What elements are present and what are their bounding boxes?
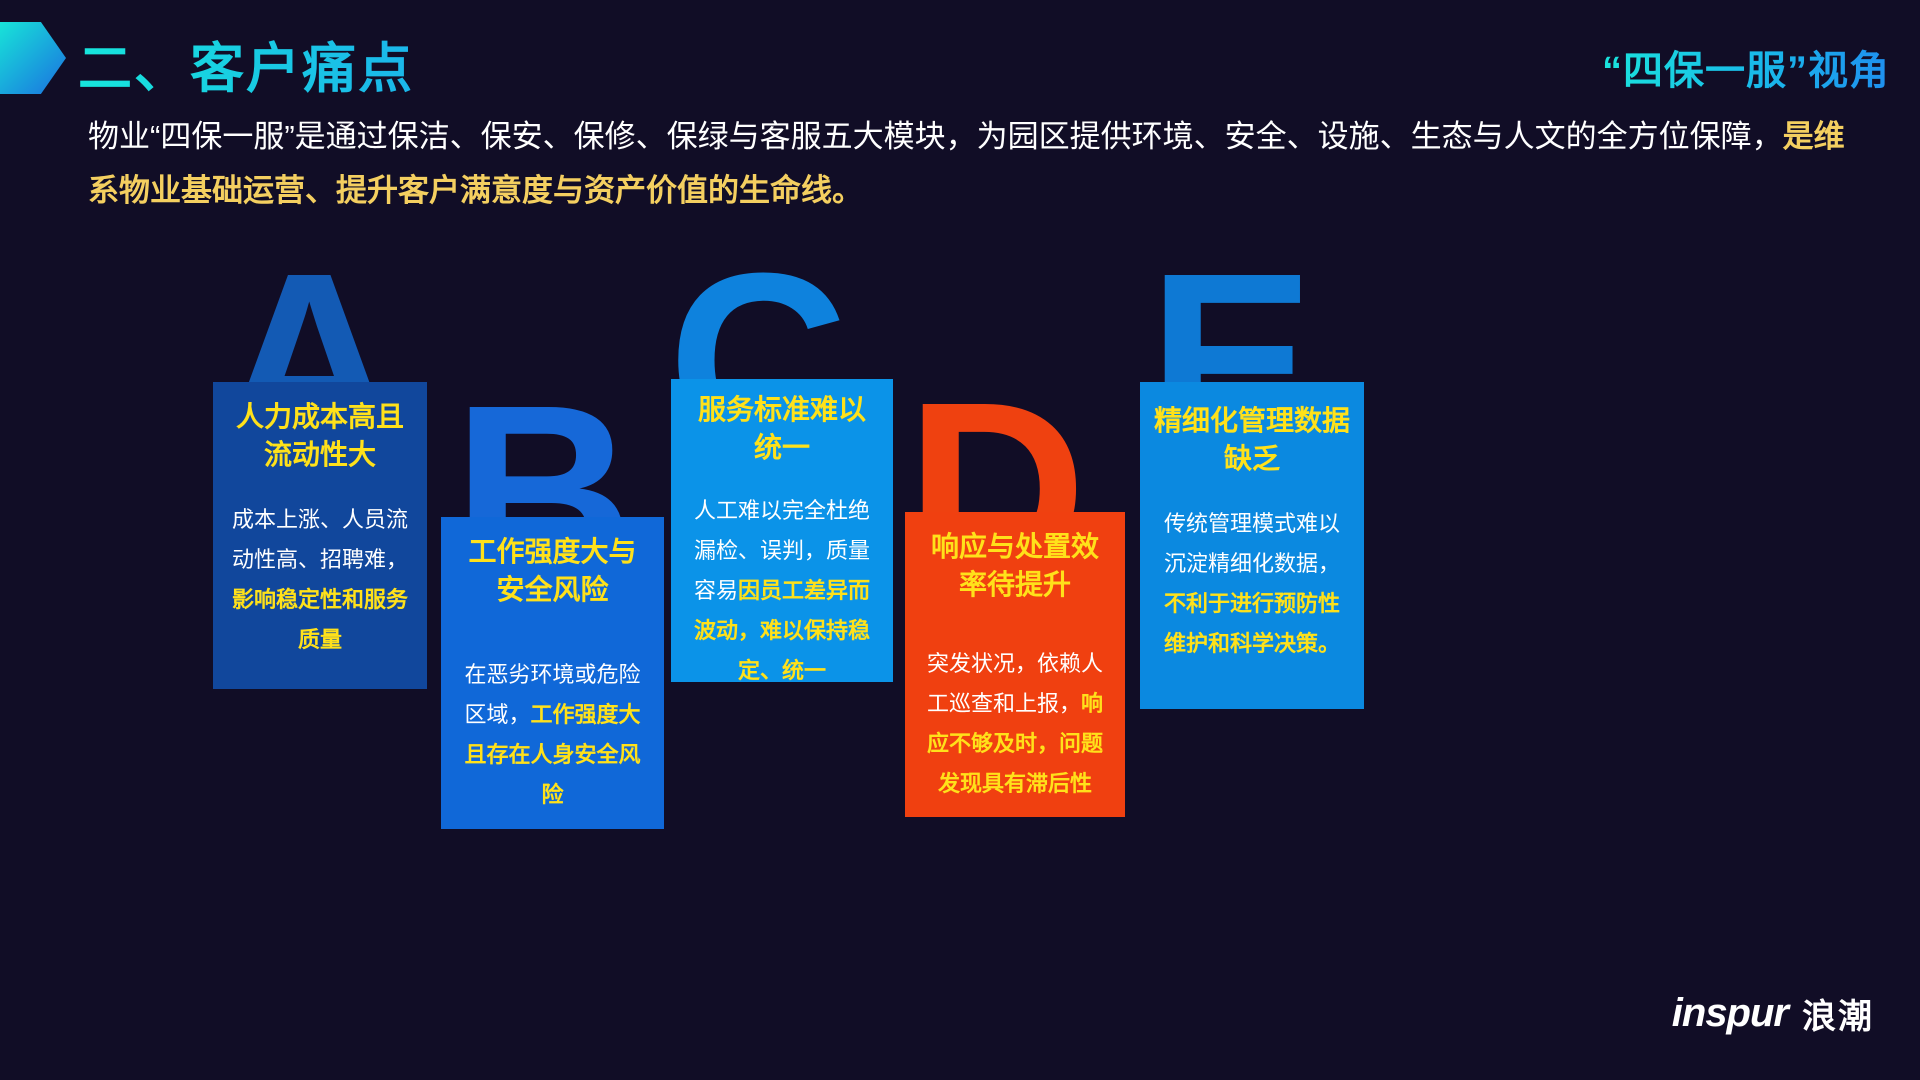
intro-paragraph: 物业“四保一服”是通过保洁、保安、保修、保绿与客服五大模块，为园区提供环境、安全… xyxy=(88,110,1848,218)
card-b-title: 工作强度大与安全风险 xyxy=(455,533,650,609)
card-c-body: 人工难以完全杜绝漏检、误判，质量容易因员工差异而波动，难以保持稳定、统一 xyxy=(685,491,879,691)
card-a-body-bold: 影响稳定性和服务质量 xyxy=(232,587,408,652)
logo-chinese-name: 浪潮 xyxy=(1802,989,1874,1038)
card-d-body: 突发状况，依赖人工巡查和上报，响应不够及时，问题发现具有滞后性 xyxy=(919,644,1111,804)
card-e-body-bold: 不利于进行预防性维护和科学决策。 xyxy=(1164,591,1340,656)
card-c-title: 服务标准难以统一 xyxy=(685,391,879,467)
slide-canvas: 二、客户痛点 “四保一服”视角 物业“四保一服”是通过保洁、保安、保修、保绿与客… xyxy=(0,0,1920,1080)
card-e-body-plain: 传统管理模式难以沉淀精细化数据， xyxy=(1164,511,1340,576)
card-a-body: 成本上涨、人员流动性高、招聘难，影响稳定性和服务质量 xyxy=(227,500,413,660)
brand-logo: inspur 浪潮 xyxy=(1672,989,1874,1038)
card-e-title: 精细化管理数据缺乏 xyxy=(1154,402,1350,478)
card-b-body: 在恶劣环境或危险区域，工作强度大且存在人身安全风险 xyxy=(455,655,650,815)
pain-point-card-e[interactable]: 精细化管理数据缺乏 传统管理模式难以沉淀精细化数据，不利于进行预防性维护和科学决… xyxy=(1140,382,1364,709)
card-e-body: 传统管理模式难以沉淀精细化数据，不利于进行预防性维护和科学决策。 xyxy=(1154,504,1350,664)
card-d-body-plain: 突发状况，依赖人工巡查和上报， xyxy=(927,651,1103,716)
intro-plain-text: 物业“四保一服”是通过保洁、保安、保修、保绿与客服五大模块，为园区提供环境、安全… xyxy=(88,119,1783,154)
card-a-body-plain: 成本上涨、人员流动性高、招聘难， xyxy=(232,507,408,572)
chevron-right-icon xyxy=(0,22,66,94)
card-d-title: 响应与处置效率待提升 xyxy=(919,528,1111,604)
page-title: 二、客户痛点 xyxy=(78,24,414,103)
card-a-title: 人力成本高且流动性大 xyxy=(227,398,413,474)
pain-point-card-d[interactable]: 响应与处置效率待提升 突发状况，依赖人工巡查和上报，响应不够及时，问题发现具有滞… xyxy=(905,512,1125,817)
header-subtitle: “四保一服”视角 xyxy=(1602,38,1890,96)
logo-wordmark: inspur xyxy=(1672,991,1788,1036)
pain-point-card-c[interactable]: 服务标准难以统一 人工难以完全杜绝漏检、误判，质量容易因员工差异而波动，难以保持… xyxy=(671,379,893,682)
pain-point-card-b[interactable]: 工作强度大与安全风险 在恶劣环境或危险区域，工作强度大且存在人身安全风险 xyxy=(441,517,664,829)
pain-point-card-a[interactable]: 人力成本高且流动性大 成本上涨、人员流动性高、招聘难，影响稳定性和服务质量 xyxy=(213,382,427,689)
